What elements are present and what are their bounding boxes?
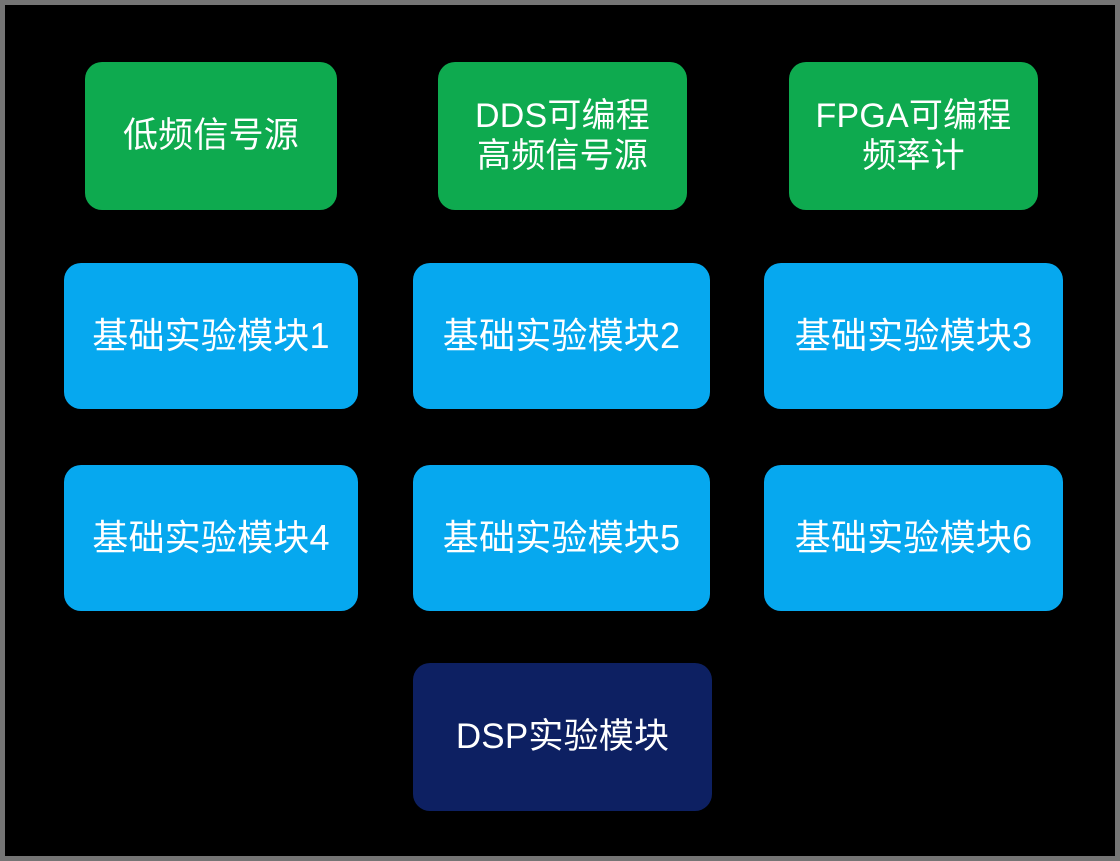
node-label: 基础实验模块1 bbox=[86, 315, 335, 357]
node-label: 基础实验模块6 bbox=[789, 517, 1038, 559]
node-label: 低频信号源 bbox=[117, 115, 305, 156]
node-basic-module-4[interactable]: 基础实验模块4 bbox=[64, 465, 358, 611]
node-label: 基础实验模块4 bbox=[86, 517, 335, 559]
diagram-canvas: 低频信号源 DDS可编程 高频信号源 FPGA可编程 频率计 基础实验模块1 基… bbox=[0, 0, 1120, 861]
node-basic-module-5[interactable]: 基础实验模块5 bbox=[413, 465, 710, 611]
node-basic-module-3[interactable]: 基础实验模块3 bbox=[764, 263, 1063, 409]
node-basic-module-6[interactable]: 基础实验模块6 bbox=[764, 465, 1063, 611]
node-basic-module-1[interactable]: 基础实验模块1 bbox=[64, 263, 358, 409]
node-basic-module-2[interactable]: 基础实验模块2 bbox=[413, 263, 710, 409]
node-label: DSP实验模块 bbox=[450, 716, 675, 757]
node-label: DDS可编程 高频信号源 bbox=[469, 96, 656, 176]
node-label: 基础实验模块2 bbox=[437, 315, 686, 357]
node-label: 基础实验模块3 bbox=[789, 315, 1038, 357]
node-low-freq-signal-source[interactable]: 低频信号源 bbox=[85, 62, 337, 210]
node-label: FPGA可编程 频率计 bbox=[810, 96, 1018, 176]
node-fpga-programmable-frequency-counter[interactable]: FPGA可编程 频率计 bbox=[789, 62, 1038, 210]
node-dds-programmable-hf-signal-source[interactable]: DDS可编程 高频信号源 bbox=[438, 62, 687, 210]
node-label: 基础实验模块5 bbox=[437, 517, 686, 559]
node-dsp-experiment-module[interactable]: DSP实验模块 bbox=[413, 663, 712, 811]
